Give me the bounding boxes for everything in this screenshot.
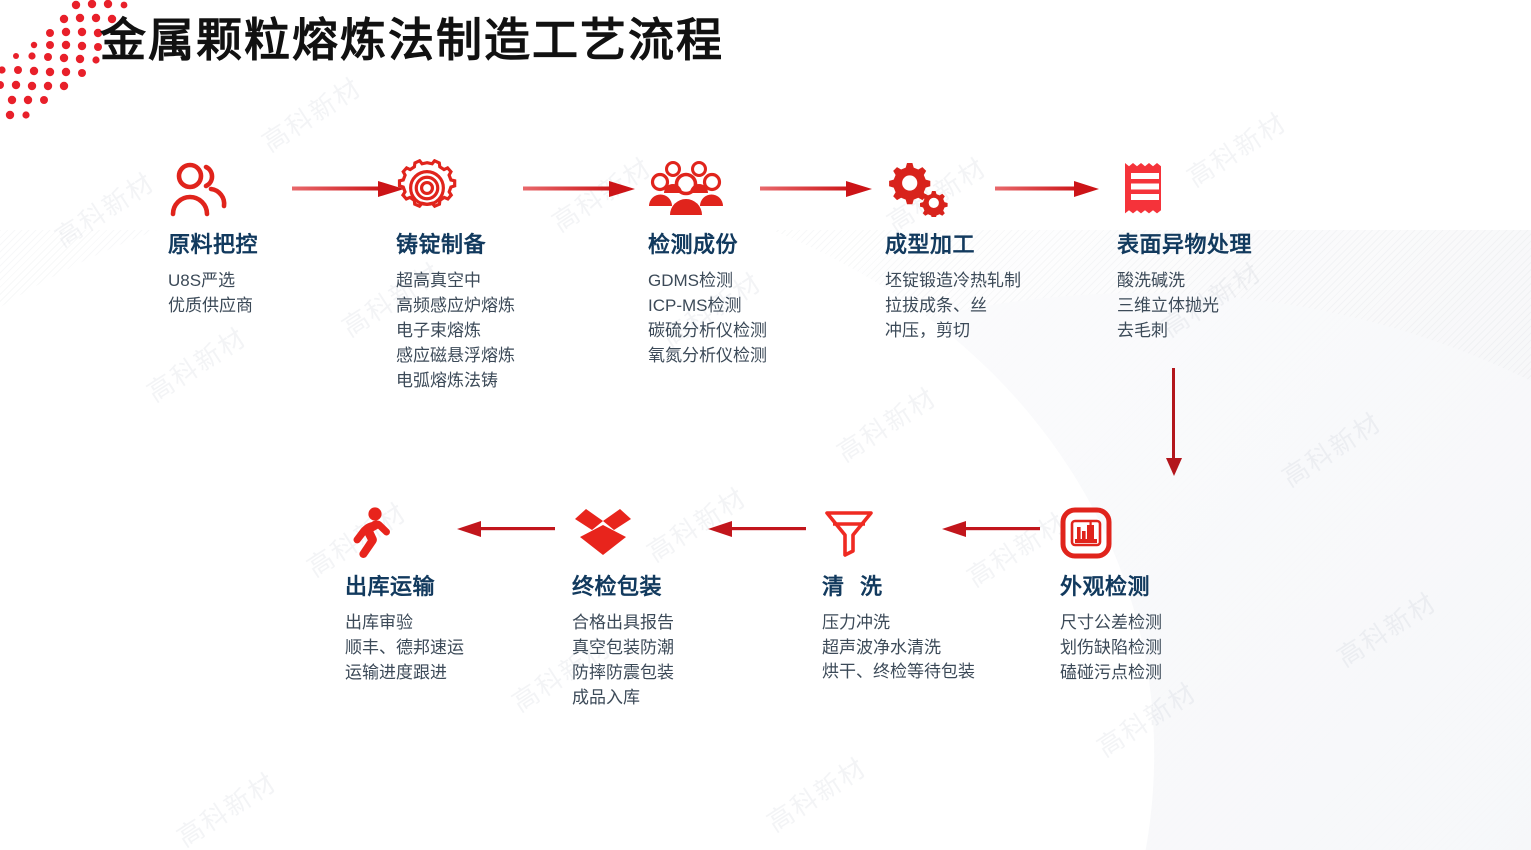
step-detail-line: 电弧熔炼法铸 — [396, 368, 626, 393]
step-detail-line: 氧氮分析仪检测 — [648, 343, 878, 368]
step-title: 出库运输 — [345, 569, 575, 601]
slide-canvas: 高科新材 高科新材 高科新材 高科新材 高科新材 高科新材 高科新材 高科新材 … — [0, 0, 1531, 850]
factory-badge-icon — [1060, 507, 1112, 559]
step-detail-line: 酸洗碱洗 — [1117, 268, 1347, 293]
step-title: 成型加工 — [885, 227, 1135, 259]
step-detail-line: 成品入库 — [572, 685, 802, 710]
step-detail-line: 运输进度跟进 — [345, 660, 575, 685]
step-detail-line: 电子束熔炼 — [396, 318, 626, 343]
step-icon-wrap — [345, 497, 575, 559]
step-detail-line: 三维立体抛光 — [1117, 293, 1347, 318]
walking-person-icon — [345, 507, 401, 559]
funnel-icon — [822, 507, 876, 559]
open-box-icon — [572, 507, 634, 559]
step-title: 外观检测 — [1060, 569, 1290, 601]
step-detail-line: 感应磁悬浮熔炼 — [396, 343, 626, 368]
page-title: 金属颗粒熔炼法制造工艺流程 — [100, 4, 724, 70]
step-cleaning[interactable]: 清洗 压力冲洗 超声波净水清洗 烘干、终检等待包装 — [822, 497, 1052, 684]
step-detail-list: 合格出具报告 真空包装防潮 防摔防震包装 成品入库 — [572, 610, 802, 710]
step-detail-list: 酸洗碱洗 三维立体抛光 去毛刺 — [1117, 268, 1347, 343]
two-people-icon — [168, 161, 230, 217]
step-icon-wrap — [396, 155, 626, 217]
step-detail-line: 压力冲洗 — [822, 610, 1052, 635]
step-detail-line: U8S严选 — [168, 268, 398, 293]
arrow-step5-to-step6 — [1163, 368, 1185, 478]
step-title: 原料把控 — [168, 227, 398, 259]
step-icon-wrap — [1117, 155, 1347, 217]
step-icon-wrap — [648, 155, 878, 217]
step-detail-line: 优质供应商 — [168, 293, 398, 318]
step-icon-wrap — [822, 497, 1052, 559]
step-title: 表面异物处理 — [1117, 227, 1347, 259]
step-detail-line: 冲压，剪切 — [885, 318, 1135, 343]
step-appearance-inspection[interactable]: 外观检测 尺寸公差检测 划伤缺陷检测 磕碰污点检测 — [1060, 497, 1290, 685]
step-forming-processing[interactable]: 成型加工 坯锭锻造冷热轧制 拉拔成条、丝 冲压，剪切 — [885, 155, 1135, 343]
step-outbound-transport[interactable]: 出库运输 出库审验 顺丰、德邦速运 运输进度跟进 — [345, 497, 575, 685]
step-raw-material-control[interactable]: 原料把控 U8S严选 优质供应商 — [168, 155, 398, 318]
step-ingot-preparation[interactable]: 铸锭制备 超高真空中 高频感应炉熔炼 电子束熔炼 感应磁悬浮熔炼 电弧熔炼法铸 — [396, 155, 626, 393]
step-detail-line: 去毛刺 — [1117, 318, 1347, 343]
step-final-inspection-packaging[interactable]: 终检包装 合格出具报告 真空包装防潮 防摔防震包装 成品入库 — [572, 497, 802, 710]
step-detail-list: GDMS检测 ICP-MS检测 碳硫分析仪检测 氧氮分析仪检测 — [648, 268, 878, 368]
step-detail-line: 真空包装防潮 — [572, 635, 802, 660]
step-icon-wrap — [168, 155, 398, 217]
step-icon-wrap — [1060, 497, 1290, 559]
step-detail-list: 坯锭锻造冷热轧制 拉拔成条、丝 冲压，剪切 — [885, 268, 1135, 343]
step-detail-line: 划伤缺陷检测 — [1060, 635, 1290, 660]
step-detail-line: ICP-MS检测 — [648, 293, 878, 318]
step-detail-line: 高频感应炉熔炼 — [396, 293, 626, 318]
step-detail-line: 尺寸公差检测 — [1060, 610, 1290, 635]
step-detail-line: 拉拔成条、丝 — [885, 293, 1135, 318]
gear-icon — [396, 159, 458, 217]
step-detail-line: 磕碰污点检测 — [1060, 660, 1290, 685]
step-title: 检测成份 — [648, 227, 878, 259]
step-detail-line: 坯锭锻造冷热轧制 — [885, 268, 1135, 293]
step-detail-line: 烘干、终检等待包装 — [822, 660, 982, 684]
step-icon-wrap — [572, 497, 802, 559]
step-detail-list: 超高真空中 高频感应炉熔炼 电子束熔炼 感应磁悬浮熔炼 电弧熔炼法铸 — [396, 268, 626, 393]
step-detail-line: 合格出具报告 — [572, 610, 802, 635]
step-detail-line: 出库审验 — [345, 610, 575, 635]
step-detail-line: 顺丰、德邦速运 — [345, 635, 575, 660]
two-gears-icon — [885, 161, 951, 217]
step-detail-line: 防摔防震包装 — [572, 660, 802, 685]
step-detail-list: 出库审验 顺丰、德邦速运 运输进度跟进 — [345, 610, 575, 685]
step-detail-line: 超高真空中 — [396, 268, 626, 293]
step-detail-line: GDMS检测 — [648, 268, 878, 293]
step-detail-list: U8S严选 优质供应商 — [168, 268, 398, 318]
step-title: 终检包装 — [572, 569, 802, 601]
step-detail-list: 压力冲洗 超声波净水清洗 烘干、终检等待包装 — [822, 610, 1052, 684]
step-title: 铸锭制备 — [396, 227, 626, 259]
step-detail-line: 碳硫分析仪检测 — [648, 318, 878, 343]
step-surface-foreign-matter-treatment[interactable]: 表面异物处理 酸洗碱洗 三维立体抛光 去毛刺 — [1117, 155, 1347, 343]
step-detail-line: 超声波净水清洗 — [822, 635, 1052, 660]
people-group-icon — [648, 159, 724, 217]
step-icon-wrap — [885, 155, 1135, 217]
step-detail-list: 尺寸公差检测 划伤缺陷检测 磕碰污点检测 — [1060, 610, 1290, 685]
document-icon — [1117, 159, 1173, 217]
step-composition-testing[interactable]: 检测成份 GDMS检测 ICP-MS检测 碳硫分析仪检测 氧氮分析仪检测 — [648, 155, 878, 368]
step-title: 清洗 — [822, 569, 1052, 601]
